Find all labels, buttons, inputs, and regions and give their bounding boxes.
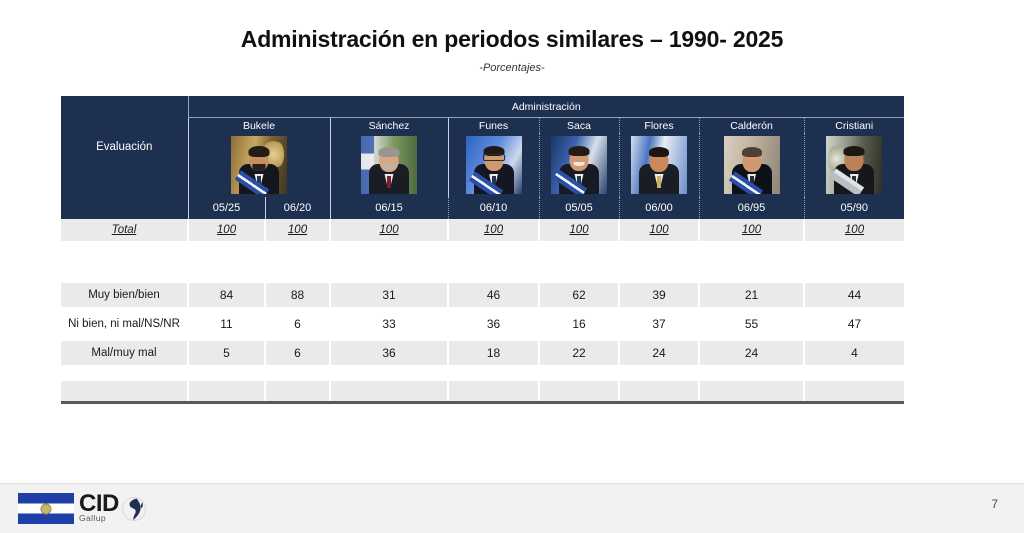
cell-mal-sanchez-0615: 36 — [330, 341, 448, 365]
president-photo-flores — [619, 133, 699, 197]
evaluation-table-wrapper: Evaluación Administración Bukele Sánchez… — [61, 96, 904, 404]
flag-seal-icon — [41, 503, 52, 514]
total-cristiani-0590: 100 — [804, 219, 904, 241]
cell-muybien-funes-0610: 46 — [448, 283, 539, 307]
evaluation-table: Evaluación Administración Bukele Sánchez… — [61, 96, 904, 401]
cell-muybien-bukele-0620: 88 — [265, 283, 330, 307]
portrait-funes-image — [466, 136, 522, 194]
cell-muybien-sanchez-0615: 31 — [330, 283, 448, 307]
empty-cell-8 — [804, 381, 904, 401]
cell-mal-bukele-0620: 6 — [265, 341, 330, 365]
period-date-row: 05/25 06/20 06/15 06/10 05/05 06/00 06/9… — [61, 197, 904, 219]
president-name-flores: Flores — [619, 118, 699, 134]
cell-mal-bukele-0525: 5 — [188, 341, 265, 365]
empty-cell-5 — [539, 381, 619, 401]
cell-mal-calderon-0695: 24 — [699, 341, 804, 365]
el-salvador-flag-icon — [18, 493, 74, 524]
portrait-sanchez-image — [361, 136, 417, 194]
brand-name-gallup: Gallup — [79, 513, 106, 523]
total-flores-0600: 100 — [619, 219, 699, 241]
cell-nibien-calderon-0695: 55 — [699, 307, 804, 341]
portrait-flores-image — [631, 136, 687, 194]
empty-cell-1 — [188, 381, 265, 401]
president-photo-row — [61, 133, 904, 197]
empty-cell-6 — [619, 381, 699, 401]
cell-nibien-sanchez-0615: 33 — [330, 307, 448, 341]
portrait-calderon-image — [724, 136, 780, 194]
portrait-saca-image — [551, 136, 607, 194]
total-row-label: Total — [61, 219, 188, 241]
brand-name-cid: CID — [79, 494, 119, 514]
empty-cell-3 — [330, 381, 448, 401]
table-row: Muy bien/bien 84 88 31 46 62 39 21 44 — [61, 283, 904, 307]
president-name-saca: Saca — [539, 118, 619, 134]
total-funes-0610: 100 — [448, 219, 539, 241]
slide-footer: CID Gallup 7 — [0, 483, 1024, 533]
globe-icon — [121, 496, 147, 522]
president-name-funes: Funes — [448, 118, 539, 134]
date-bukele-0525: 05/25 — [188, 197, 265, 219]
cell-nibien-saca-0505: 16 — [539, 307, 619, 341]
president-photo-bukele — [188, 133, 330, 197]
cell-muybien-flores-0600: 39 — [619, 283, 699, 307]
empty-cell-2 — [265, 381, 330, 401]
empty-cell-7 — [699, 381, 804, 401]
cell-nibien-bukele-0620: 6 — [265, 307, 330, 341]
cell-nibien-bukele-0525: 11 — [188, 307, 265, 341]
table-pregap-cell — [61, 365, 904, 381]
row-label-ni-bien-ni-mal: Ni bien, ni mal/NS/NR — [61, 307, 188, 341]
table-row: Ni bien, ni mal/NS/NR 11 6 33 36 16 37 5… — [61, 307, 904, 341]
cell-muybien-bukele-0525: 84 — [188, 283, 265, 307]
total-calderon-0695: 100 — [699, 219, 804, 241]
page-number: 7 — [991, 497, 998, 511]
table-spacer-cell — [61, 241, 904, 283]
cell-nibien-flores-0600: 37 — [619, 307, 699, 341]
president-name-bukele: Bukele — [188, 118, 330, 134]
row-label-mal-muy-mal: Mal/muy mal — [61, 341, 188, 365]
president-name-cristiani: Cristiani — [804, 118, 904, 134]
president-photo-saca — [539, 133, 619, 197]
portrait-cristiani-image — [826, 136, 882, 194]
portrait-bukele-image — [231, 136, 287, 194]
date-spacer — [61, 197, 188, 219]
page-subtitle: -Porcentajes- — [0, 62, 1024, 74]
total-bukele-0620: 100 — [265, 219, 330, 241]
date-bukele-0620: 06/20 — [265, 197, 330, 219]
president-name-row: Bukele Sánchez Funes Saca Flores Calderó… — [61, 118, 904, 134]
cell-muybien-calderon-0695: 21 — [699, 283, 804, 307]
president-name-calderon: Calderón — [699, 118, 804, 134]
brand-text-block: CID Gallup — [79, 494, 119, 523]
empty-cell-label — [61, 381, 188, 401]
empty-cell-4 — [448, 381, 539, 401]
group-header-administracion: Administración — [188, 96, 904, 118]
date-calderon-0695: 06/95 — [699, 197, 804, 219]
president-photo-funes — [448, 133, 539, 197]
president-name-sanchez: Sánchez — [330, 118, 448, 134]
table-row: Mal/muy mal 5 6 36 18 22 24 24 4 — [61, 341, 904, 365]
cell-mal-cristiani-0590: 4 — [804, 341, 904, 365]
total-bukele-0525: 100 — [188, 219, 265, 241]
date-flores-0600: 06/00 — [619, 197, 699, 219]
table-pregap-row — [61, 365, 904, 381]
total-row: Total 100 100 100 100 100 100 100 100 — [61, 219, 904, 241]
page-title: Administración en periodos similares – 1… — [0, 26, 1024, 53]
total-sanchez-0615: 100 — [330, 219, 448, 241]
table-empty-band-row — [61, 381, 904, 401]
cell-mal-funes-0610: 18 — [448, 341, 539, 365]
cell-mal-flores-0600: 24 — [619, 341, 699, 365]
cell-muybien-cristiani-0590: 44 — [804, 283, 904, 307]
table-bottom-rule — [61, 401, 904, 404]
date-sanchez-0615: 06/15 — [330, 197, 448, 219]
row-header-evaluacion: Evaluación — [61, 96, 188, 197]
cell-mal-saca-0505: 22 — [539, 341, 619, 365]
cell-nibien-cristiani-0590: 47 — [804, 307, 904, 341]
president-photo-sanchez — [330, 133, 448, 197]
president-photo-cristiani — [804, 133, 904, 197]
total-saca-0505: 100 — [539, 219, 619, 241]
date-cristiani-0590: 05/90 — [804, 197, 904, 219]
date-saca-0505: 05/05 — [539, 197, 619, 219]
president-photo-calderon — [699, 133, 804, 197]
cell-muybien-saca-0505: 62 — [539, 283, 619, 307]
cell-nibien-funes-0610: 36 — [448, 307, 539, 341]
date-funes-0610: 06/10 — [448, 197, 539, 219]
table-spacer-row — [61, 241, 904, 283]
row-label-muy-bien-bien: Muy bien/bien — [61, 283, 188, 307]
group-header-row: Evaluación Administración — [61, 96, 904, 118]
cid-gallup-logo: CID Gallup — [18, 493, 147, 524]
